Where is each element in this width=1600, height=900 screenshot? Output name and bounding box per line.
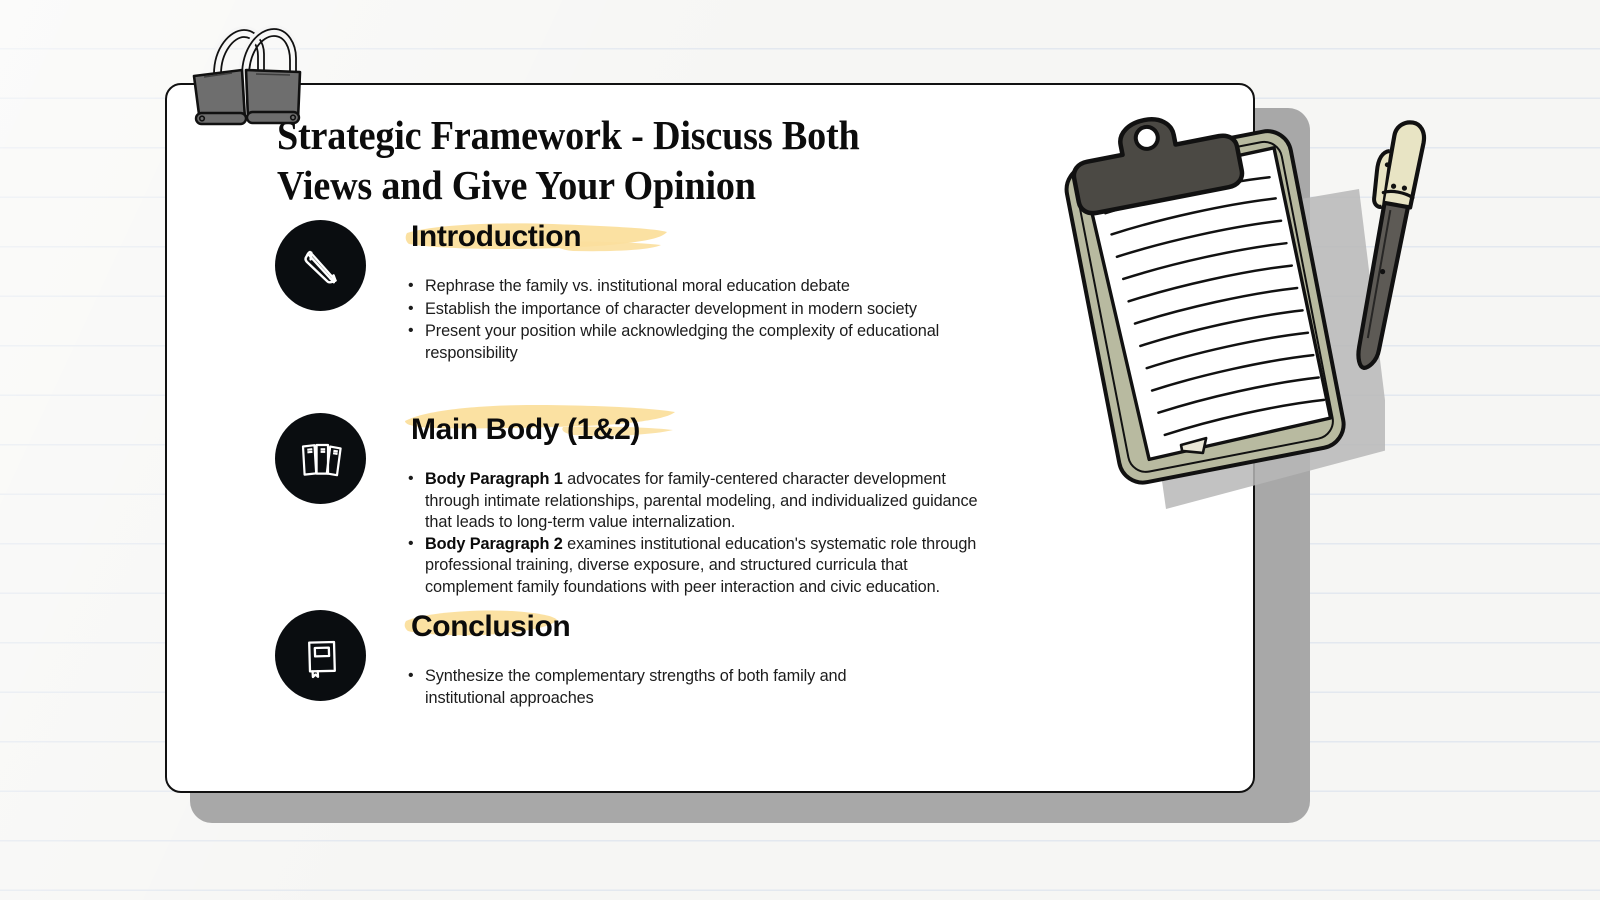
list-item: Rephrase the family vs. institutional mo… <box>425 276 1025 298</box>
section-heading: Main Body (1&2) <box>411 413 640 446</box>
bullet-lead: Body Paragraph 1 <box>425 470 563 488</box>
clipboard-illustration <box>1055 95 1385 515</box>
bullet-list: Body Paragraph 1 advocates for family-ce… <box>405 469 985 598</box>
section-body: Introduction Rephrase the family vs. ins… <box>405 220 1025 365</box>
bullet-lead: Body Paragraph 2 <box>425 535 563 553</box>
heading-wrap-main-body: Main Body (1&2) <box>405 413 646 447</box>
section-heading: Conclusion <box>411 610 570 643</box>
list-item: Establish the importance of character de… <box>425 299 1025 321</box>
list-item: Body Paragraph 1 advocates for family-ce… <box>425 469 985 534</box>
heading-wrap-conclusion: Conclusion <box>405 610 576 644</box>
book-bookmark-icon <box>275 610 366 701</box>
list-item: Synthesize the complementary strengths o… <box>425 666 875 709</box>
page-title: Strategic Framework - Discuss Both Views… <box>277 110 928 210</box>
books-icon <box>275 413 366 504</box>
heading-wrap-introduction: Introduction <box>405 220 587 254</box>
pencil-icon <box>275 220 366 311</box>
section-body: Main Body (1&2) Body Paragraph 1 advocat… <box>405 413 985 598</box>
section-heading: Introduction <box>411 220 581 253</box>
bullet-list: Synthesize the complementary strengths o… <box>405 666 875 709</box>
bullet-list: Rephrase the family vs. institutional mo… <box>405 276 1025 364</box>
section-body: Conclusion Synthesize the complementary … <box>405 610 875 710</box>
binder-clip <box>186 14 308 137</box>
list-item: Body Paragraph 2 examines institutional … <box>425 534 985 599</box>
pen-illustration <box>1345 118 1427 403</box>
list-item: Present your position while acknowledgin… <box>425 321 1025 364</box>
